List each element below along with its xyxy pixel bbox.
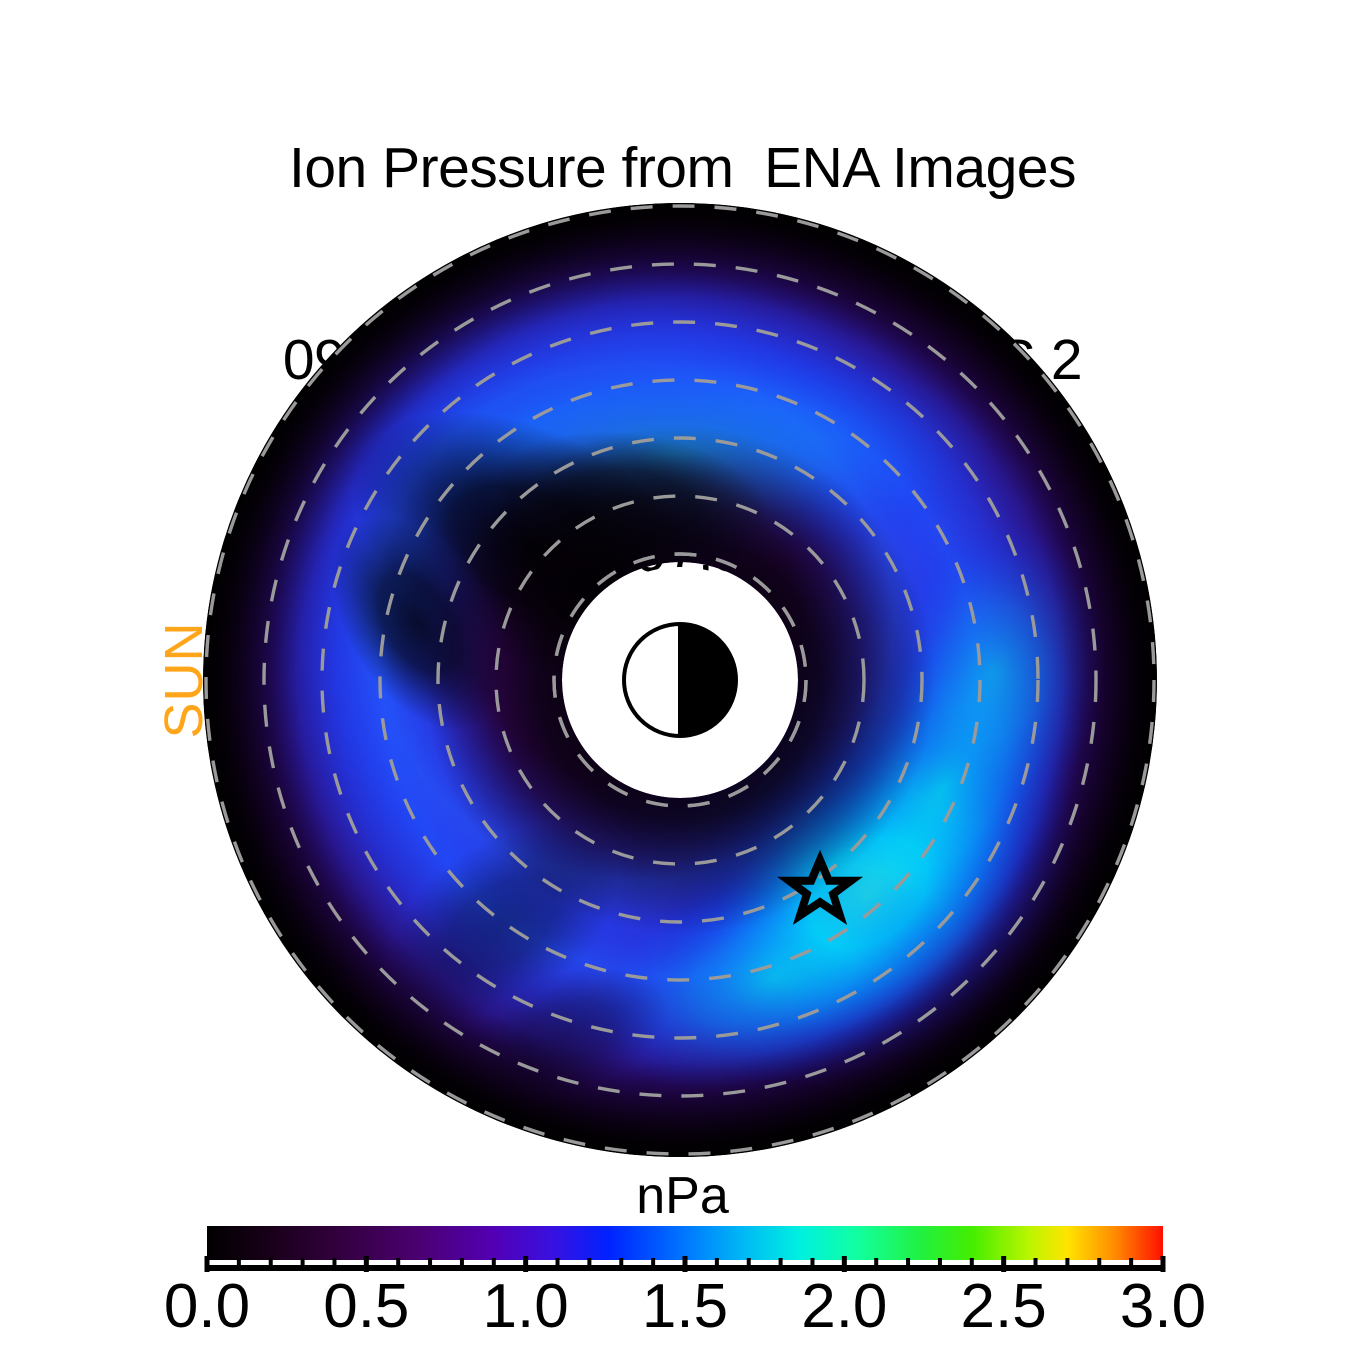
colorbar-tick-label: 2.0 xyxy=(801,1272,887,1342)
colorbar-tick-label: 3.0 xyxy=(1120,1272,1206,1342)
colorbar-tick-label: 1.0 xyxy=(483,1272,569,1342)
colorbar-tick-label: 1.5 xyxy=(642,1272,728,1342)
title-line-1: Ion Pressure from ENA Images xyxy=(0,136,1365,200)
pressure-map-svg xyxy=(203,203,1157,1157)
colorbar-gradient xyxy=(207,1226,1163,1260)
colorbar xyxy=(207,1226,1163,1270)
colorbar-unit-label: nPa xyxy=(0,1168,1365,1224)
colorbar-tick-label: 0.5 xyxy=(323,1272,409,1342)
earth-symbol xyxy=(624,624,736,736)
sun-direction-label: SUN xyxy=(104,600,264,760)
colorbar-tick-label: 0.0 xyxy=(164,1272,250,1342)
colorbar-tick-label: 2.5 xyxy=(961,1272,1047,1342)
polar-pressure-map xyxy=(203,203,1157,1157)
colorbar-tick-labels: 0.00.51.01.52.02.53.0 xyxy=(0,1272,1365,1342)
